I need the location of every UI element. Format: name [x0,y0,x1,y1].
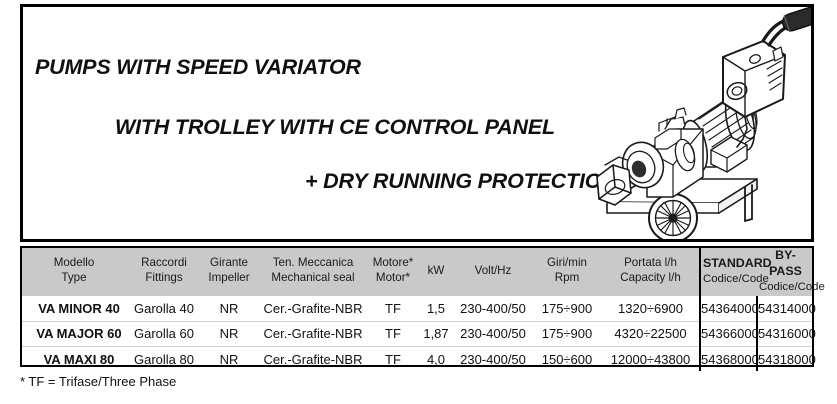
footnote: * TF = Trifase/Three Phase [20,374,176,389]
column-header-model: Modello Type [20,246,128,296]
column-header-motor: Motore* Motor* [368,246,418,296]
title-line-3: + DRY RUNNING PROTECTION [305,169,617,194]
column-header-rpm: Giri/min Rpm [532,246,602,296]
title-line-2: WITH TROLLEY WITH CE CONTROL PANEL [115,115,555,140]
column-header-fittings: Raccordi Fittings [128,246,200,296]
cell-motor: TF [368,321,418,346]
product-spec-sheet: PUMPS WITH SPEED VARIATOR WITH TROLLEY W… [0,0,837,404]
cell-rpm: 175÷900 [532,296,602,321]
title-block: PUMPS WITH SPEED VARIATOR WITH TROLLEY W… [23,7,643,239]
cell-rpm: 150÷600 [532,346,602,371]
cell-bypass-code: 54314000 [757,296,814,321]
cell-model: VA MINOR 40 [20,296,128,321]
cell-kw: 1,5 [418,296,454,321]
cell-seal: Cer.-Grafite-NBR [258,321,368,346]
cell-capacity: 1320÷6900 [602,296,700,321]
cell-standard-code: 54368000 [700,346,757,371]
title-banner: PUMPS WITH SPEED VARIATOR WITH TROLLEY W… [20,4,814,242]
cell-volt-hz: 230-400/50 [454,321,532,346]
title-line-1: PUMPS WITH SPEED VARIATOR [35,55,361,80]
cell-impeller: NR [200,346,258,371]
cell-rpm: 175÷900 [532,321,602,346]
table-row: VA MINOR 40 Garolla 40 NR Cer.-Grafite-N… [20,296,814,321]
cell-motor: TF [368,346,418,371]
column-header-volt-hz: Volt/Hz [454,246,532,296]
cell-model: VA MAJOR 60 [20,321,128,346]
cell-fittings: Garolla 80 [128,346,200,371]
cell-standard-code: 54364000 [700,296,757,321]
table-header-row: Modello Type Raccordi Fittings Girante I… [20,246,814,296]
cell-impeller: NR [200,296,258,321]
column-header-impeller: Girante Impeller [200,246,258,296]
cell-seal: Cer.-Grafite-NBR [258,346,368,371]
cell-impeller: NR [200,321,258,346]
cell-standard-code: 54366000 [700,321,757,346]
cell-bypass-code: 54318000 [757,346,814,371]
pump-on-trolley-illustration [585,7,814,242]
cell-fittings: Garolla 40 [128,296,200,321]
column-header-standard-code: STANDARD Codice/Code [700,246,757,296]
column-header-capacity: Portata l/h Capacity l/h [602,246,700,296]
cell-seal: Cer.-Grafite-NBR [258,296,368,321]
column-header-bypass-code: BY-PASS Codice/Code [757,246,814,296]
cell-capacity: 12000÷43800 [602,346,700,371]
cell-kw: 1,87 [418,321,454,346]
cell-bypass-code: 54316000 [757,321,814,346]
cell-volt-hz: 230-400/50 [454,346,532,371]
cell-motor: TF [368,296,418,321]
column-header-kw: kW [418,246,454,296]
cell-model: VA MAXI 80 [20,346,128,371]
table-row: VA MAXI 80 Garolla 80 NR Cer.-Grafite-NB… [20,346,814,371]
column-header-mechanical-seal: Ten. Meccanica Mechanical seal [258,246,368,296]
specifications-table: Modello Type Raccordi Fittings Girante I… [20,246,814,371]
cell-capacity: 4320÷22500 [602,321,700,346]
cell-volt-hz: 230-400/50 [454,296,532,321]
cell-fittings: Garolla 60 [128,321,200,346]
table-row: VA MAJOR 60 Garolla 60 NR Cer.-Grafite-N… [20,321,814,346]
cell-kw: 4,0 [418,346,454,371]
